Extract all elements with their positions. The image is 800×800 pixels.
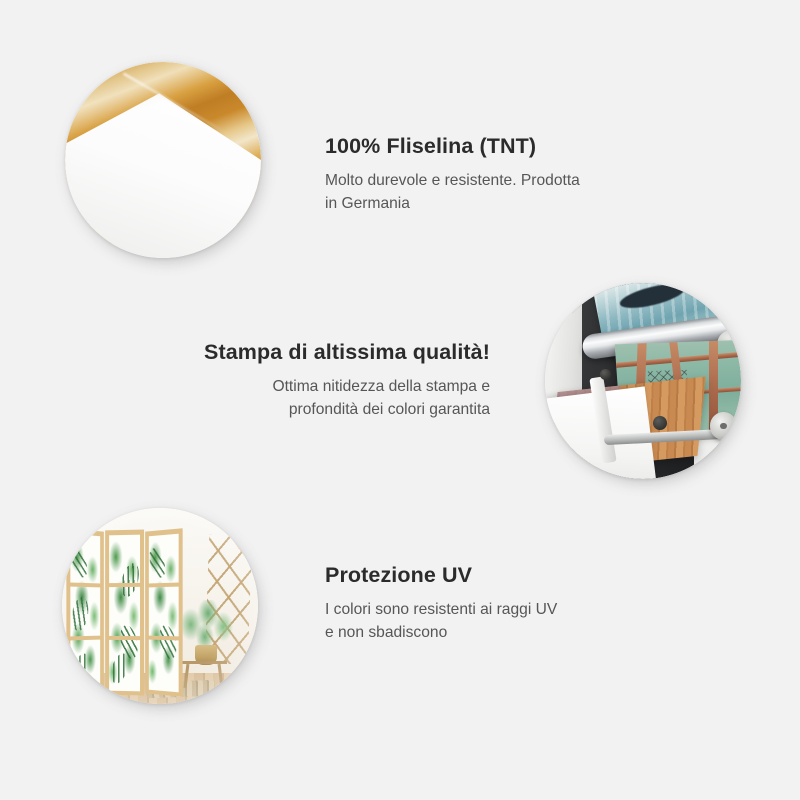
feature-description-line-2: profondità dei colori garantita (289, 401, 490, 418)
folding-room-divider (66, 530, 184, 695)
badge-image-clip (545, 283, 741, 479)
feature-text-protezione-uv: Protezione UV I colori sono resistenti a… (325, 563, 675, 644)
large-format-printer-photo (545, 283, 741, 479)
divider-panel-2 (105, 529, 144, 694)
feature-description-line-1: Ottima nitidezza della stampa e (272, 378, 490, 395)
panel-crossbar-upper (149, 582, 179, 587)
wallpaper-roll-peeled-corner-photo (65, 62, 261, 258)
panel-crossbar-upper (70, 582, 100, 587)
product-features-infographic: 100% Fliselina (TNT) Molto durevole e re… (0, 0, 800, 800)
printer-knob-secondary (600, 369, 611, 380)
printer-knob-primary (653, 416, 667, 430)
panel-crossbar-lower (149, 635, 179, 640)
panel-crossbar-lower (109, 636, 140, 640)
panel-crossbar-lower (70, 635, 100, 640)
feature-description-line-1: I colori sono resistenti ai raggi UV (325, 601, 557, 618)
roller-cap-center (720, 423, 727, 430)
feature-title: Stampa di altissima qualità! (120, 340, 490, 366)
feature-description-line-1: Molto durevole e resistente. Prodotta (325, 172, 580, 189)
feature-description-line-2: e non sbadiscono (325, 624, 447, 641)
divider-panel-3 (145, 528, 183, 696)
feature-description: Molto durevole e resistente. Prodotta in… (325, 169, 675, 215)
feature-text-stampa-qualita: Stampa di altissima qualità! Ottima niti… (120, 340, 490, 421)
feature-title: 100% Fliselina (TNT) (325, 134, 675, 160)
badge-image-clip (65, 62, 261, 258)
feature-description-line-2: in Germania (325, 195, 410, 212)
badge-image-clip (62, 508, 258, 704)
panel-crossbar-upper (109, 583, 140, 587)
feature-description: I colori sono resistenti ai raggi UV e n… (325, 598, 675, 644)
tropical-room-divider-photo (62, 508, 258, 704)
feature-description: Ottima nitidezza della stampa e profondi… (120, 375, 490, 421)
divider-panel-1 (66, 528, 104, 696)
feature-title: Protezione UV (325, 563, 675, 589)
printer-roller-cap-lower (710, 412, 737, 439)
feature-text-fliselina: 100% Fliselina (TNT) Molto durevole e re… (325, 134, 675, 215)
